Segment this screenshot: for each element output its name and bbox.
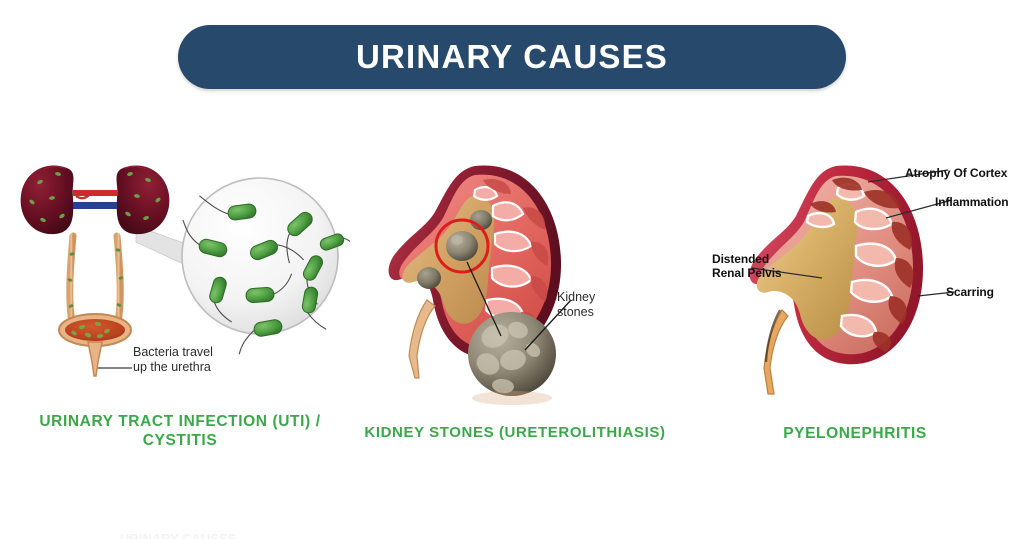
renal-vessels	[73, 190, 117, 209]
right-kidney	[117, 166, 170, 235]
magnified-kidney-stone	[468, 312, 556, 405]
label-distended-renal-pelvis: Distended Renal Pelvis	[712, 252, 782, 280]
infographic-canvas: URINARY CAUSES	[0, 0, 1024, 538]
title-banner: URINARY CAUSES	[178, 25, 846, 89]
left-kidney	[21, 166, 74, 235]
label-inflammation: Inflammation	[935, 195, 1008, 209]
caption-pyelonephritis: PYELONEPHRITIS	[690, 424, 1020, 443]
caption-kidney-stones: KIDNEY STONES (URETEROLITHIASIS)	[355, 423, 675, 442]
callout-bacteria-travel: Bacteria travel up the urethra	[133, 345, 263, 375]
kidneys-ureters-bladder-diagram	[10, 150, 350, 418]
label-atrophy-of-cortex: Atrophy Of Cortex	[905, 166, 1007, 180]
callout-kidney-stones: Kidney stones	[557, 290, 627, 320]
bladder	[59, 314, 131, 376]
panel-urinary-tract-infection: Bacteria travel up the urethra URINARY T…	[10, 150, 350, 480]
panel-pyelonephritis: Atrophy Of Cortex Inflammation Distended…	[690, 150, 1020, 480]
kidney-stones-diagram	[355, 150, 675, 418]
ureters	[70, 236, 120, 322]
inflamed-kidney-diagram	[690, 150, 1020, 418]
label-scarring: Scarring	[946, 285, 994, 299]
bacteria-magnifier	[176, 178, 350, 354]
panel-kidney-stones: Kidney stones KIDNEY STONES (URETEROLITH…	[355, 150, 675, 480]
page-title: URINARY CAUSES	[356, 38, 668, 76]
caption-uti: URINARY TRACT INFECTION (UTI) / CYSTITIS	[10, 412, 350, 450]
ureter	[409, 300, 435, 378]
